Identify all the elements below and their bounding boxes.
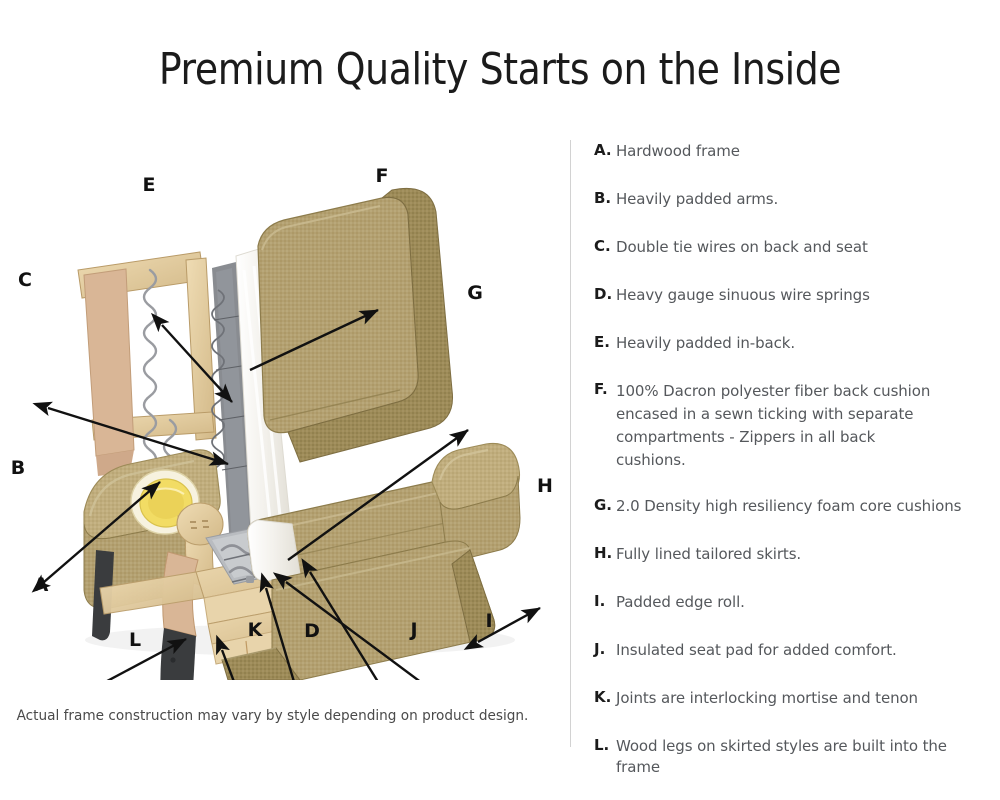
callout-letter-I: I [485, 610, 492, 632]
callout-letter-B: B [11, 457, 25, 479]
callout-letter-C: C [18, 269, 32, 291]
legend-letter-f: F. [594, 380, 616, 398]
legend-item-l: L. Wood legs on skirted styles are built… [594, 736, 994, 778]
front-stile [160, 552, 198, 680]
legend-letter-c: C. [594, 237, 616, 255]
legend-text-a: Hardwood frame [616, 141, 994, 162]
legend-letter-a: A. [594, 141, 616, 159]
callout-letter-L: L [129, 629, 141, 651]
legend-text-b: Heavily padded arms. [616, 189, 994, 210]
legend-text-g: 2.0 Density high resiliency foam core cu… [616, 496, 994, 517]
legend-item-f: F. 100% Dacron polyester fiber back cush… [594, 380, 994, 472]
legend-item-g: G. 2.0 Density high resiliency foam core… [594, 496, 994, 517]
legend-text-j: Insulated seat pad for added comfort. [616, 640, 994, 661]
legend-text-e: Heavily padded in-back. [616, 333, 994, 354]
legend-item-b: B. Heavily padded arms. [594, 189, 994, 210]
legend-letter-g: G. [594, 496, 616, 514]
legend-item-c: C. Double tie wires on back and seat [594, 237, 994, 258]
legend-item-h: H. Fully lined tailored skirts. [594, 544, 994, 565]
legend-text-i: Padded edge roll. [616, 592, 994, 613]
legend-item-k: K. Joints are interlocking mortise and t… [594, 688, 994, 709]
callout-letter-H: H [537, 475, 553, 497]
legend-letter-i: I. [594, 592, 616, 610]
legend-letter-h: H. [594, 544, 616, 562]
legend-text-c: Double tie wires on back and seat [616, 237, 994, 258]
dacron-batting-seat [248, 520, 300, 581]
legend-text-h: Fully lined tailored skirts. [616, 544, 994, 565]
legend-item-j: J. Insulated seat pad for added comfort. [594, 640, 994, 661]
legend-letter-d: D. [594, 285, 616, 303]
legend-text-k: Joints are interlocking mortise and teno… [616, 688, 994, 709]
legend-letter-k: K. [594, 688, 616, 706]
vertical-divider [570, 140, 571, 747]
legend-item-e: E. Heavily padded in-back. [594, 333, 994, 354]
callout-letter-A: A [34, 574, 49, 596]
infographic-page: Premium Quality Starts on the Inside [0, 0, 1000, 800]
callout-letter-J: J [408, 619, 417, 641]
legend-letter-e: E. [594, 333, 616, 351]
legend-item-i: I. Padded edge roll. [594, 592, 994, 613]
construction-legend: A. Hardwood frame B. Heavily padded arms… [594, 141, 994, 778]
legend-text-l: Wood legs on skirted styles are built in… [616, 736, 994, 778]
legend-letter-j: J. [594, 640, 616, 658]
legend-item-a: A. Hardwood frame [594, 141, 994, 162]
legend-letter-b: B. [594, 189, 616, 207]
wood-leg [160, 628, 196, 680]
diagram-caption: Actual frame construction may vary by st… [16, 708, 528, 724]
callout-letter-E: E [143, 174, 156, 196]
callout-letter-F: F [376, 165, 389, 187]
legend-letter-l: L. [594, 736, 616, 754]
page-title: Premium Quality Starts on the Inside [70, 44, 930, 95]
legend-item-d: D. Heavy gauge sinuous wire springs [594, 285, 994, 306]
callout-letter-K: K [248, 619, 264, 641]
back-cushion [258, 197, 418, 432]
chair-construction-diagram: A B C D E F G H I J K L [0, 120, 560, 680]
legend-text-d: Heavy gauge sinuous wire springs [616, 285, 994, 306]
callout-letter-D: D [304, 620, 320, 642]
legend-text-f: 100% Dacron polyester fiber back cushion… [616, 380, 946, 472]
callout-letter-G: G [467, 282, 483, 304]
